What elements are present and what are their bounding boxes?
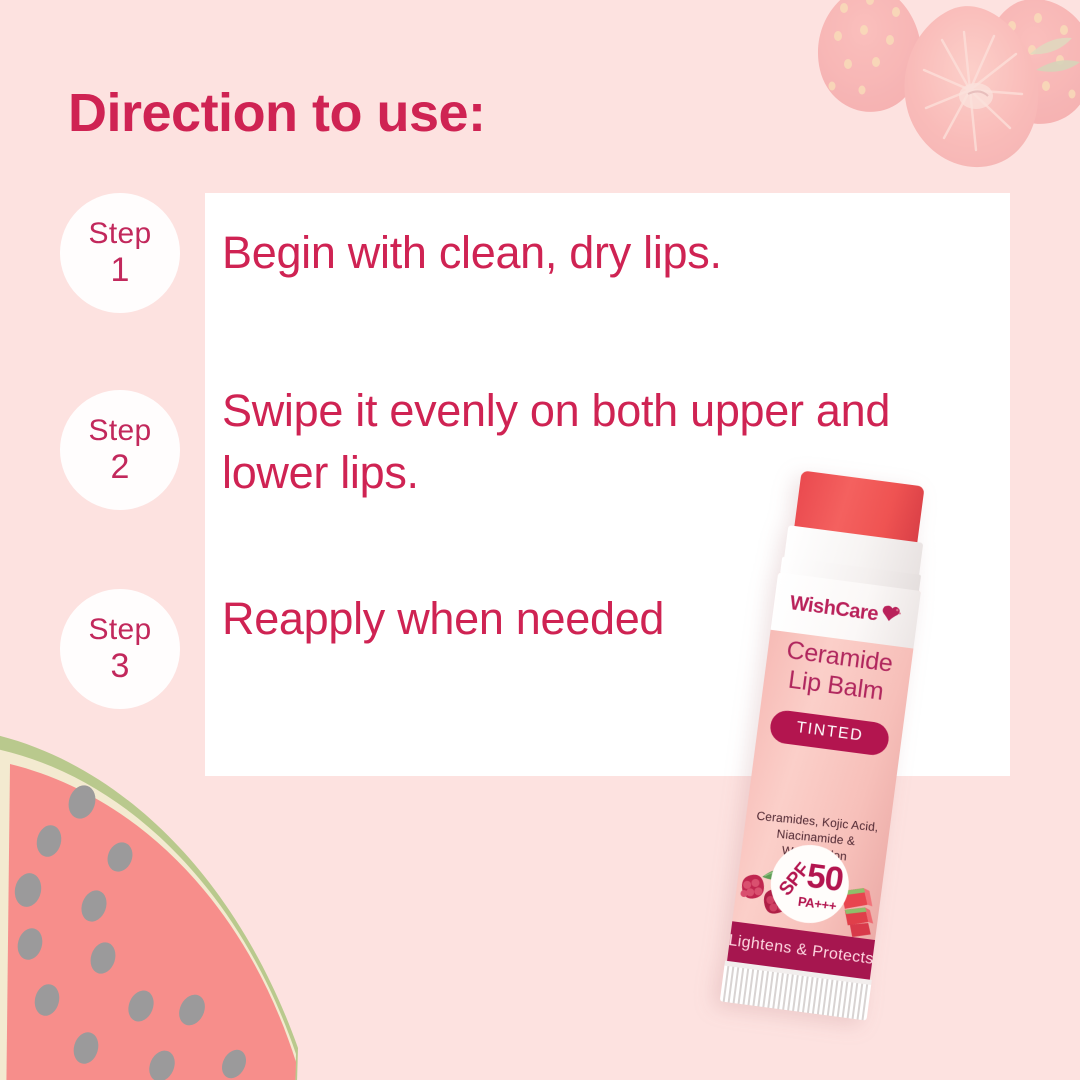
brand-name: WishCare [788, 592, 879, 626]
step-number: 1 [111, 253, 130, 287]
strawberries-icon [804, 0, 1080, 193]
step-badge-2: Step 2 [60, 390, 180, 510]
variant-badge: TINTED [768, 709, 891, 757]
page-title: Direction to use: [68, 82, 486, 144]
step-description-1: Begin with clean, dry lips. [222, 222, 912, 284]
step-label: Step [89, 219, 152, 249]
step-badge-1: Step 1 [60, 193, 180, 313]
step-label: Step [89, 416, 152, 446]
step-badge-3: Step 3 [60, 589, 180, 709]
step-number: 3 [111, 649, 130, 683]
step-number: 2 [111, 450, 130, 484]
product-instructions-poster: Direction to use: Step 1 Step 2 Step 3 B… [0, 0, 1080, 1080]
spf-badge: SPF 50 PA+++ [766, 840, 854, 928]
step-label: Step [89, 615, 152, 645]
wishcare-logo-icon [878, 602, 903, 630]
spf-value: 50 [804, 857, 845, 900]
